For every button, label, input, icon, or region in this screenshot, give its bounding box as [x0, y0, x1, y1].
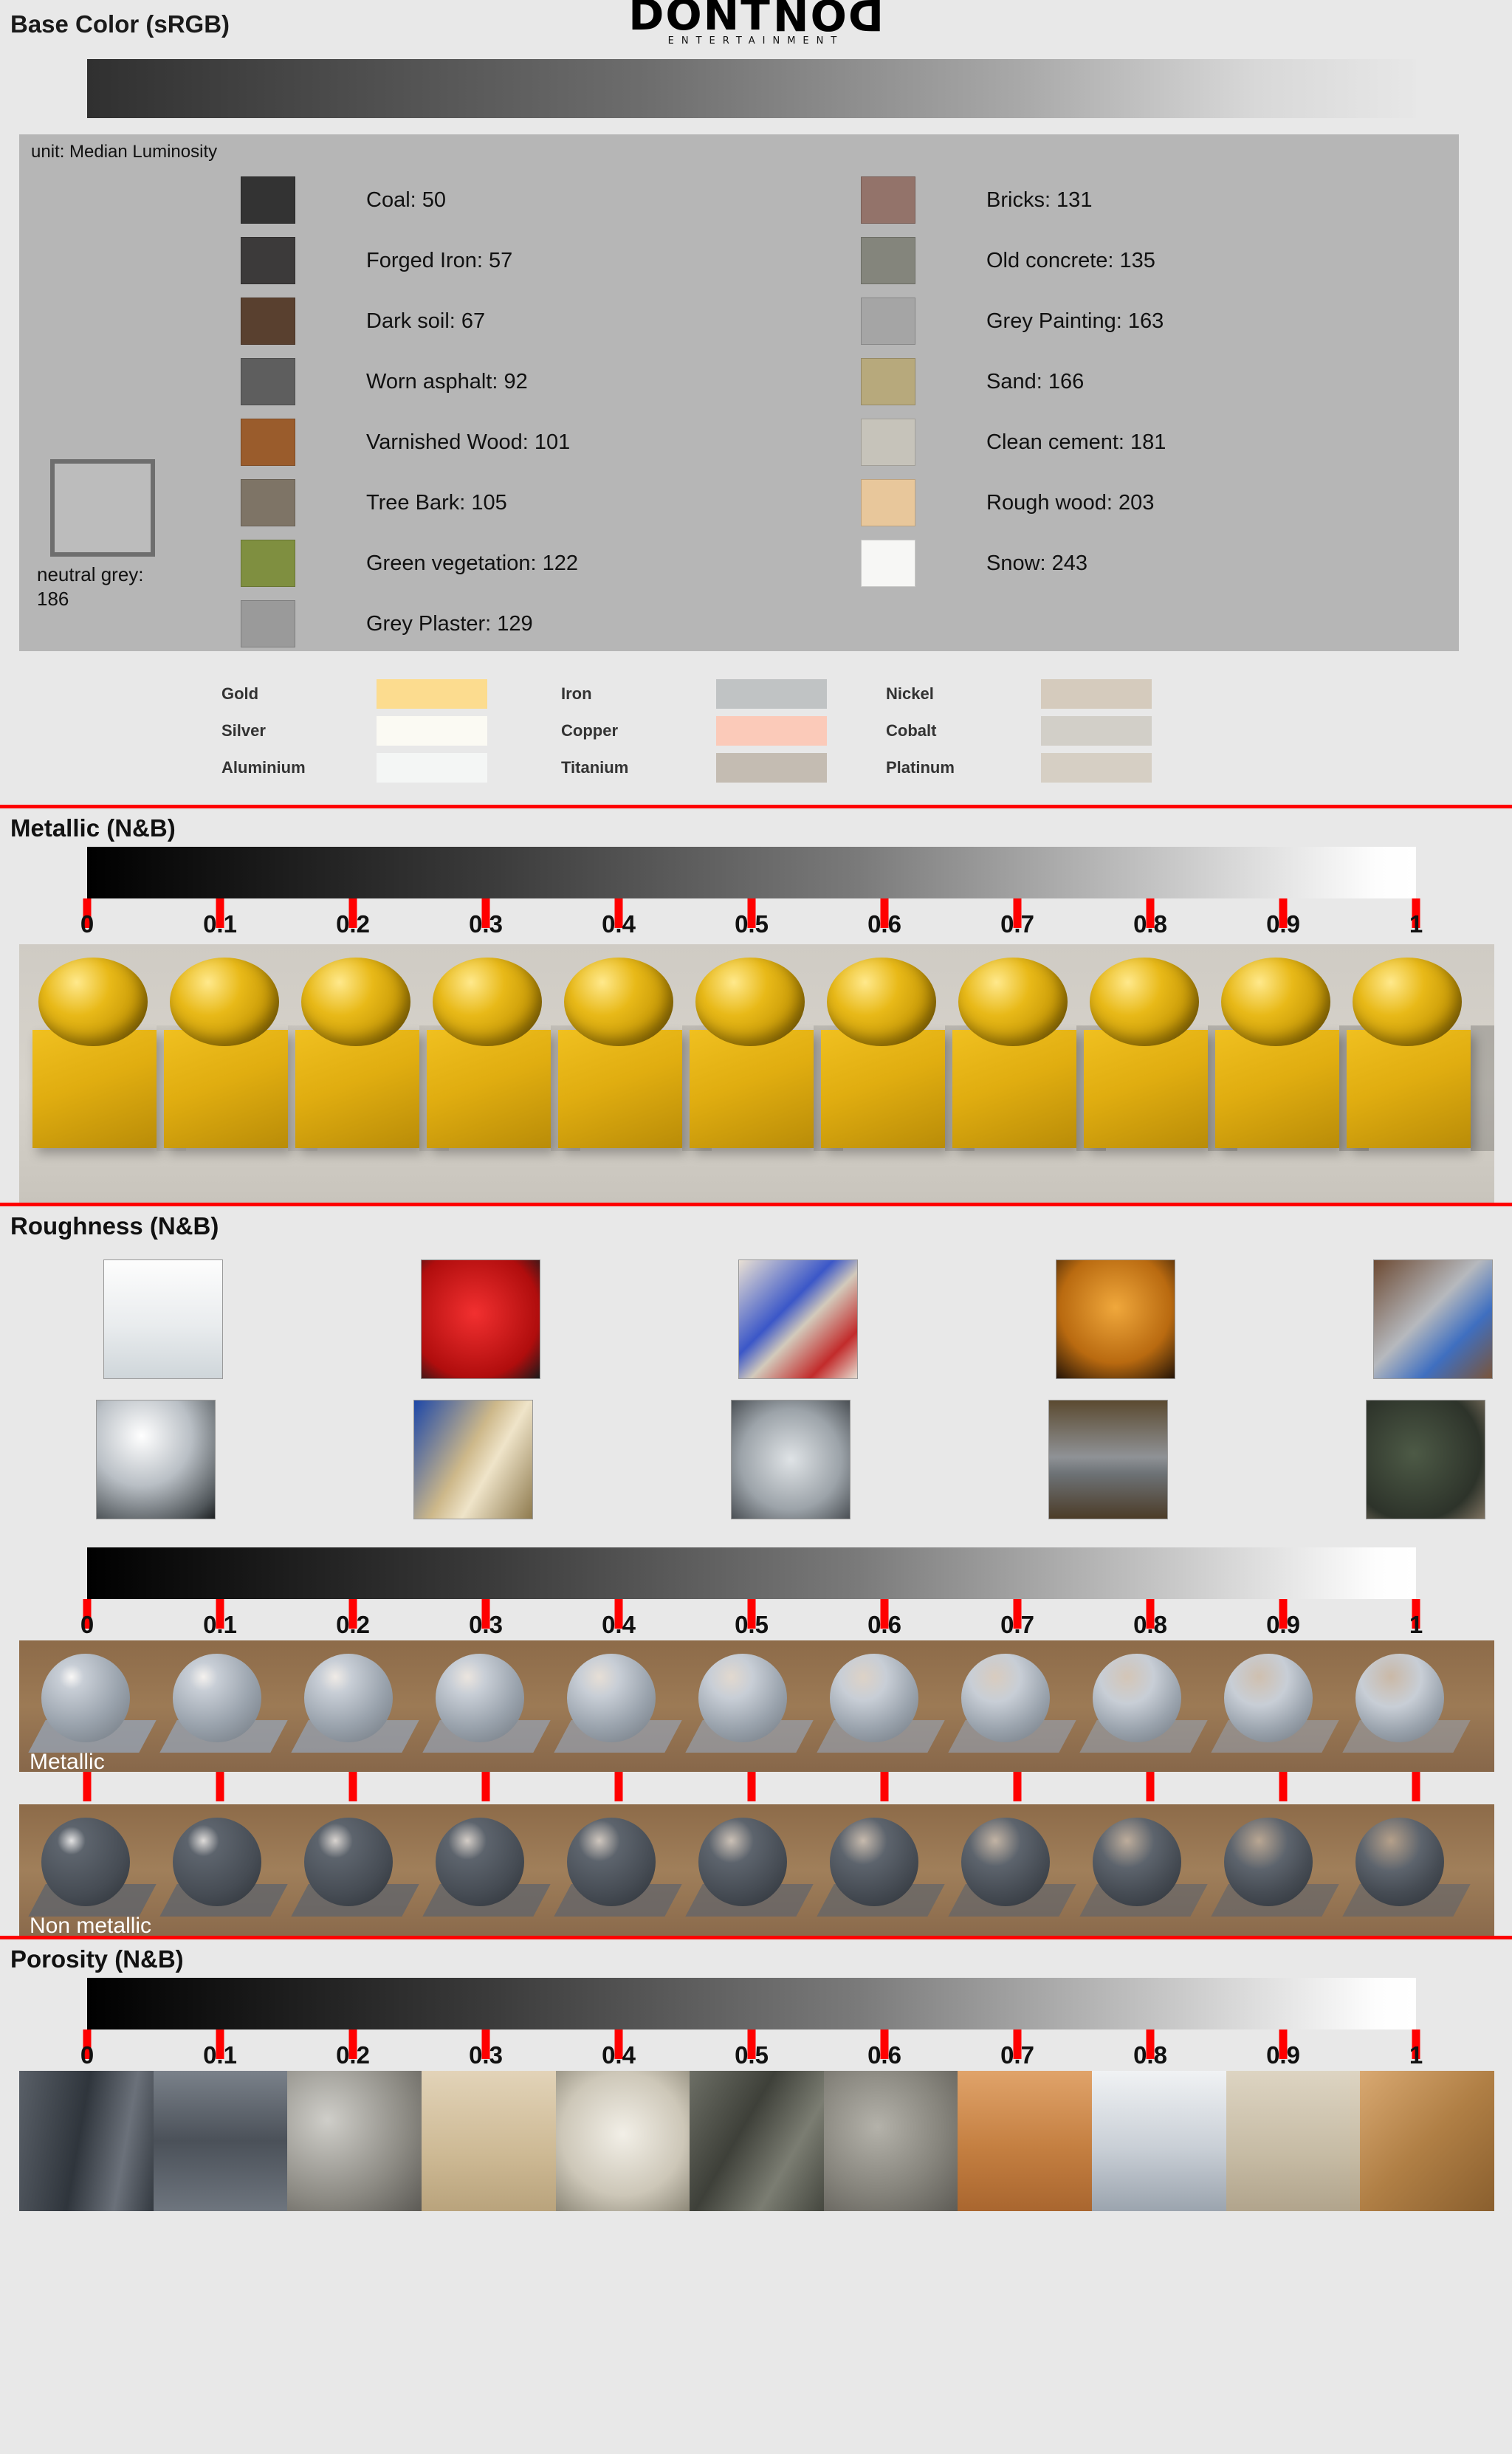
- legend-swatch: [241, 298, 295, 345]
- legend-item-label: Sand: 166: [986, 370, 1084, 394]
- legend-item-label: Green vegetation: 122: [366, 551, 578, 576]
- metallic-sample-sphere: [1221, 958, 1330, 1046]
- metallic-sample-sphere: [1353, 958, 1462, 1046]
- scale-tick-label: 0.7: [1000, 1611, 1034, 1639]
- metal-row: Cobalt: [886, 716, 1152, 746]
- legend-item-label: Grey Plaster: 129: [366, 612, 533, 636]
- roughness-sample-sphere: [961, 1654, 1050, 1742]
- metallic-sample-cube: [164, 1030, 288, 1148]
- metallic-sample-cube: [427, 1030, 551, 1148]
- legend-swatch: [241, 600, 295, 647]
- porosity-sample-speckled-granite: [287, 2071, 422, 2211]
- scale-tick-mark: [1412, 1772, 1420, 1801]
- scale-tick-label: 0.7: [1000, 2041, 1034, 2069]
- legend-item: Snow: 243: [861, 533, 1166, 594]
- scale-tick-label: 0.6: [867, 910, 901, 938]
- metallic-sample-cube: [558, 1030, 682, 1148]
- metallic-tick-row: 00.10.20.30.40.50.60.70.80.91: [87, 898, 1416, 940]
- scale-tick-label: 0.3: [469, 1611, 503, 1639]
- scale-tick-mark: [83, 1772, 92, 1801]
- legend-item-label: Dark soil: 67: [366, 309, 485, 334]
- roughness-thumbnail-dark-corroded-coins: [1366, 1400, 1485, 1519]
- roughness-reference-thumbnails: [0, 1252, 1512, 1547]
- scale-tick-label: 0.3: [469, 2041, 503, 2069]
- cube-shadow: [1471, 1025, 1494, 1151]
- legend-item: Coal: 50: [241, 170, 578, 230]
- scale-tick-label: 0.2: [336, 2041, 370, 2069]
- scale-tick-label: 0: [80, 910, 94, 938]
- metal-swatch: [1041, 753, 1152, 783]
- scale-tick-label: 0.6: [867, 1611, 901, 1639]
- scale-tick-label: 0.8: [1133, 910, 1167, 938]
- scale-tick-label: 0: [80, 2041, 94, 2069]
- scale-tick-label: 0.8: [1133, 2041, 1167, 2069]
- metal-name: Platinum: [886, 758, 1041, 777]
- roughness-gradient-bar: [87, 1547, 1416, 1599]
- roughness-sample-sphere: [1355, 1654, 1444, 1742]
- metal-row: Gold: [221, 679, 487, 709]
- roughness-sample-sphere: [1093, 1654, 1181, 1742]
- legend-swatch: [861, 540, 915, 587]
- roughness-tick-row: 00.10.20.30.40.50.60.70.80.91: [87, 1599, 1416, 1640]
- scale-tick-label: 0.6: [867, 2041, 901, 2069]
- legend-item-label: Rough wood: 203: [986, 491, 1154, 515]
- legend-item: Dark soil: 67: [241, 291, 578, 351]
- metal-swatch: [716, 716, 827, 746]
- scale-tick-label: 0.7: [1000, 910, 1034, 938]
- legend-item: Forged Iron: 57: [241, 230, 578, 291]
- metal-name: Nickel: [886, 684, 1041, 704]
- scale-tick-label: 0.5: [735, 2041, 769, 2069]
- legend-item-label: Bricks: 131: [986, 188, 1092, 213]
- scale-tick-label: 0.1: [203, 2041, 237, 2069]
- legend-item-label: Coal: 50: [366, 188, 446, 213]
- metallic-sample-cube: [690, 1030, 814, 1148]
- scale-tick-label: 0.1: [203, 910, 237, 938]
- porosity-sample-glazed-ceramic-pot: [556, 2071, 690, 2211]
- legend-item: Sand: 166: [861, 351, 1166, 412]
- neutral-grey-label: neutral grey: 186: [37, 563, 177, 611]
- legend-item-label: Grey Painting: 163: [986, 309, 1164, 334]
- section-title-porosity: Porosity (N&B): [0, 1939, 1512, 1978]
- legend-item-label: Clean cement: 181: [986, 430, 1166, 455]
- metallic-sample-cube: [295, 1030, 419, 1148]
- roughness-sample-sphere: [961, 1818, 1050, 1906]
- metal-swatch: [1041, 679, 1152, 709]
- metallic-sample-sphere: [301, 958, 410, 1046]
- roughness-thumbnail-chrome-sphere: [96, 1400, 216, 1519]
- roughness-sample-sphere: [1224, 1818, 1313, 1906]
- scale-tick-label: 1: [1409, 910, 1423, 938]
- strip-label-metallic: Metallic: [30, 1750, 105, 1772]
- legend-item: Grey Painting: 163: [861, 291, 1166, 351]
- porosity-sample-frosted-ice-snow: [1092, 2071, 1226, 2211]
- dontnod-logo: DONTDON ENTERTAINMENT: [623, 0, 889, 47]
- metallic-sample-sphere: [170, 958, 279, 1046]
- porosity-sample-pale-sandstone: [422, 2071, 556, 2211]
- base-color-gradient-bar: [87, 59, 1416, 118]
- metal-row: Copper: [561, 716, 827, 746]
- scale-tick-mark: [748, 1772, 756, 1801]
- porosity-sample-smooth-sandstone: [1226, 2071, 1361, 2211]
- roughness-thumbnail-red-ribbon-bow: [421, 1259, 540, 1379]
- roughness-sample-sphere: [41, 1818, 130, 1906]
- legend-column-left: Coal: 50Forged Iron: 57Dark soil: 67Worn…: [241, 170, 578, 654]
- scale-tick-mark: [349, 1772, 357, 1801]
- porosity-gradient-bar: [87, 1978, 1416, 2029]
- scale-tick-mark: [881, 1772, 889, 1801]
- legend-swatch: [241, 479, 295, 526]
- pbr-reference-chart: DONTDON ENTERTAINMENT Base Color (sRGB) …: [0, 0, 1512, 2454]
- porosity-sample-wood-crate-corner: [1360, 2071, 1494, 2211]
- scale-tick-label: 0.1: [203, 1611, 237, 1639]
- roughness-sample-sphere: [436, 1818, 524, 1906]
- legend-item: Varnished Wood: 101: [241, 412, 578, 472]
- porosity-sample-cracked-dry-mud: [690, 2071, 824, 2211]
- roughness-thumbnail-perforated-metal-drum: [731, 1400, 850, 1519]
- metallic-sample-cube: [1084, 1030, 1208, 1148]
- scale-tick-label: 0.9: [1266, 910, 1300, 938]
- legend-swatch: [861, 176, 915, 224]
- scale-tick-label: 0: [80, 1611, 94, 1639]
- roughness-scale: 00.10.20.30.40.50.60.70.80.91: [87, 1547, 1416, 1640]
- legend-swatch: [241, 176, 295, 224]
- scale-tick-label: 0.5: [735, 910, 769, 938]
- scale-tick-mark: [216, 1772, 224, 1801]
- metal-name: Gold: [221, 684, 377, 704]
- roughness-sample-sphere: [698, 1818, 787, 1906]
- roughness-sample-sphere: [567, 1818, 656, 1906]
- scale-tick-mark: [482, 1772, 490, 1801]
- metallic-sample-cube: [1347, 1030, 1471, 1148]
- roughness-thumbnail-weathered-metal-ring: [1048, 1400, 1168, 1519]
- porosity-sample-slate-rock: [19, 2071, 154, 2211]
- metal-row: Aluminium: [221, 753, 487, 783]
- roughness-sample-sphere: [173, 1818, 261, 1906]
- roughness-sample-sphere: [304, 1818, 393, 1906]
- legend-item: Green vegetation: 122: [241, 533, 578, 594]
- metal-row: Platinum: [886, 753, 1152, 783]
- porosity-sample-gravel-pebbles: [824, 2071, 958, 2211]
- metal-name: Silver: [221, 721, 377, 740]
- section-title-roughness: Roughness (N&B): [0, 1206, 1512, 1245]
- scale-tick-mark: [1147, 1772, 1155, 1801]
- scale-tick-mark: [1014, 1772, 1022, 1801]
- metallic-sample-cube: [821, 1030, 945, 1148]
- metal-name: Iron: [561, 684, 716, 704]
- metallic-sample-sphere: [38, 958, 148, 1046]
- porosity-sample-orange-sandstone: [958, 2071, 1092, 2211]
- scale-tick-mark: [1279, 1772, 1288, 1801]
- legend-item-label: Worn asphalt: 92: [366, 370, 528, 394]
- scale-tick-label: 0.2: [336, 1611, 370, 1639]
- legend-swatch: [861, 419, 915, 466]
- metal-row: Iron: [561, 679, 827, 709]
- legend-item: Tree Bark: 105: [241, 472, 578, 533]
- roughness-sample-sphere: [436, 1654, 524, 1742]
- metallic-render-strip: [19, 944, 1494, 1203]
- legend-item: Clean cement: 181: [861, 412, 1166, 472]
- metal-swatch: [377, 716, 487, 746]
- metal-swatch: [716, 753, 827, 783]
- metal-swatch: [716, 679, 827, 709]
- scale-tick-mark: [615, 1772, 623, 1801]
- roughness-sample-sphere: [830, 1654, 918, 1742]
- legend-swatch: [241, 540, 295, 587]
- strip-label-non-metallic: Non metallic: [30, 1914, 151, 1936]
- scale-tick-label: 0.4: [602, 1611, 636, 1639]
- legend-item-label: Snow: 243: [986, 551, 1087, 576]
- metal-swatch: [377, 753, 487, 783]
- metallic-sample-cube: [952, 1030, 1076, 1148]
- roughness-thumbnail-orange-glass-bottle: [1056, 1259, 1175, 1379]
- roughness-sample-sphere: [173, 1654, 261, 1742]
- legend-swatch: [861, 479, 915, 526]
- metallic-sample-sphere: [564, 958, 673, 1046]
- legend-item: Old concrete: 135: [861, 230, 1166, 291]
- metallic-sample-cube: [1215, 1030, 1339, 1148]
- roughness-sample-sphere: [1093, 1818, 1181, 1906]
- legend-item: Worn asphalt: 92: [241, 351, 578, 412]
- metallic-sample-cube: [32, 1030, 157, 1148]
- legend-swatch: [241, 358, 295, 405]
- legend-item: Grey Plaster: 129: [241, 594, 578, 654]
- metallic-sample-sphere: [827, 958, 936, 1046]
- roughness-mid-tick-row: [87, 1772, 1416, 1804]
- metallic-scale: 00.10.20.30.40.50.60.70.80.91: [87, 847, 1416, 940]
- roughness-render-strip-non-metallic: Non metallic: [19, 1804, 1494, 1936]
- metal-swatch: [377, 679, 487, 709]
- roughness-sample-sphere: [1224, 1654, 1313, 1742]
- base-color-legend-panel: unit: Median Luminosity neutral grey: 18…: [19, 134, 1459, 651]
- metal-row: Nickel: [886, 679, 1152, 709]
- metal-name: Titanium: [561, 758, 716, 777]
- scale-tick-label: 1: [1409, 2041, 1423, 2069]
- legend-item-label: Varnished Wood: 101: [366, 430, 570, 455]
- metal-name: Copper: [561, 721, 716, 740]
- scale-tick-label: 0.9: [1266, 2041, 1300, 2069]
- logo-wordmark: DONTDON: [623, 0, 889, 34]
- metallic-gradient-bar: [87, 847, 1416, 898]
- scale-tick-label: 0.8: [1133, 1611, 1167, 1639]
- roughness-thumbnail-blue-plastic-phone: [1373, 1259, 1493, 1379]
- metallic-sample-sphere: [433, 958, 542, 1046]
- legend-swatch: [861, 298, 915, 345]
- metal-row: Silver: [221, 716, 487, 746]
- metallic-sample-sphere: [1090, 958, 1199, 1046]
- scale-tick-label: 0.4: [602, 910, 636, 938]
- scale-tick-label: 0.3: [469, 910, 503, 938]
- scale-tick-label: 0.2: [336, 910, 370, 938]
- porosity-tick-row: 00.10.20.30.40.50.60.70.80.91: [87, 2029, 1416, 2071]
- metallic-sample-sphere: [958, 958, 1068, 1046]
- section-title-metallic: Metallic (N&B): [0, 808, 1512, 847]
- legend-item: Bricks: 131: [861, 170, 1166, 230]
- roughness-thumbnail-glass-tumbler: [103, 1259, 223, 1379]
- roughness-thumbnail-brushed-metal-cone: [413, 1400, 533, 1519]
- legend-item-label: Forged Iron: 57: [366, 249, 512, 273]
- scale-tick-label: 0.9: [1266, 1611, 1300, 1639]
- legend-item-label: Old concrete: 135: [986, 249, 1155, 273]
- neutral-grey-swatch: [50, 459, 155, 557]
- scale-tick-label: 0.5: [735, 1611, 769, 1639]
- roughness-thumbnail-ballpoint-pens: [738, 1259, 858, 1379]
- metal-name: Aluminium: [221, 758, 377, 777]
- scale-tick-label: 0.4: [602, 2041, 636, 2069]
- roughness-sample-sphere: [304, 1654, 393, 1742]
- porosity-scale: 00.10.20.30.40.50.60.70.80.91: [87, 1978, 1416, 2071]
- metal-base-color-table: GoldSilverAluminiumIronCopperTitaniumNic…: [0, 664, 1512, 805]
- roughness-sample-sphere: [698, 1654, 787, 1742]
- legend-swatch: [241, 419, 295, 466]
- metal-swatch: [1041, 716, 1152, 746]
- legend-unit-label: unit: Median Luminosity: [31, 142, 217, 162]
- porosity-sample-strip: [19, 2071, 1494, 2211]
- metal-row: Titanium: [561, 753, 827, 783]
- legend-column-right: Bricks: 131Old concrete: 135Grey Paintin…: [861, 170, 1166, 594]
- legend-swatch: [861, 237, 915, 284]
- porosity-sample-grey-stone-blocks: [154, 2071, 288, 2211]
- legend-swatch: [861, 358, 915, 405]
- roughness-sample-sphere: [567, 1654, 656, 1742]
- legend-item-label: Tree Bark: 105: [366, 491, 507, 515]
- metal-name: Cobalt: [886, 721, 1041, 740]
- roughness-sample-sphere: [830, 1818, 918, 1906]
- metallic-sample-sphere: [695, 958, 805, 1046]
- legend-item: Rough wood: 203: [861, 472, 1166, 533]
- roughness-render-strip-metallic: Metallic: [19, 1640, 1494, 1772]
- legend-swatch: [241, 237, 295, 284]
- roughness-sample-sphere: [1355, 1818, 1444, 1906]
- roughness-sample-sphere: [41, 1654, 130, 1742]
- scale-tick-label: 1: [1409, 1611, 1423, 1639]
